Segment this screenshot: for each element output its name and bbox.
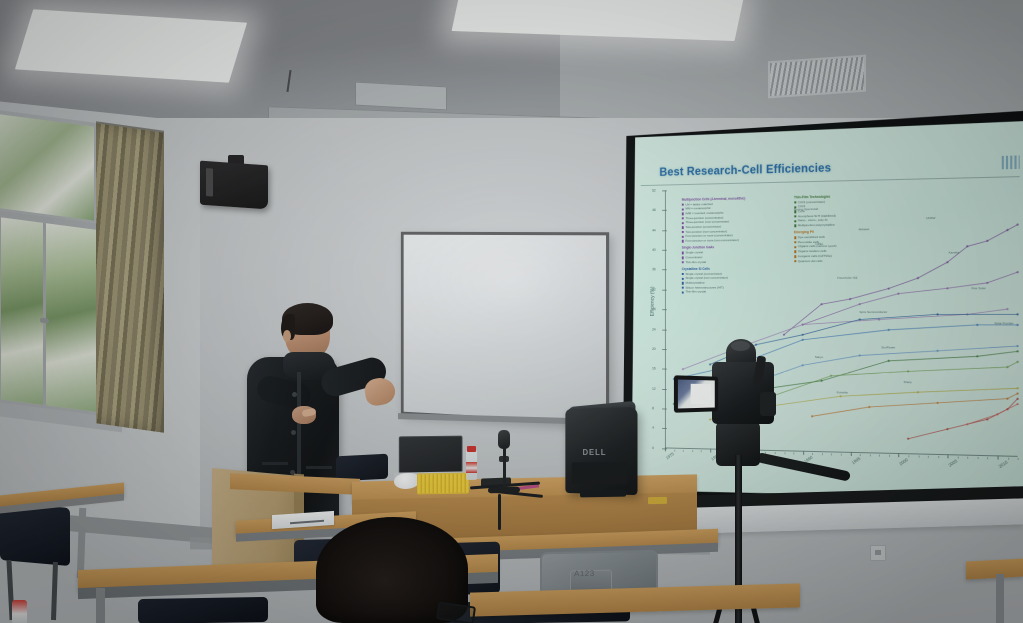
- x-minor-tick: [948, 456, 949, 458]
- x-minor-tick: [977, 457, 978, 459]
- chart-marker: [1007, 308, 1009, 310]
- legend-item: Four-junction or more (non-concentrator): [682, 238, 746, 243]
- chart-marker: [682, 368, 684, 370]
- x-minor-tick: [968, 457, 969, 459]
- y-tick: [662, 428, 667, 429]
- x-minor-tick: [784, 452, 785, 454]
- y-tick-label: 44: [652, 228, 656, 232]
- chart-marker: [868, 406, 870, 408]
- chart-marker: [937, 313, 939, 315]
- chart-marker: [802, 334, 804, 336]
- legend-item: Thin-film crystal: [682, 259, 746, 264]
- side-desk: [966, 559, 1023, 580]
- y-tick-label: 48: [652, 208, 656, 212]
- chart-annotation: Sanyo: [815, 356, 823, 360]
- chart-marker: [709, 363, 711, 365]
- chart-marker: [1017, 350, 1019, 352]
- dell-logo: DELL: [583, 448, 607, 457]
- window-pane-left: [1, 217, 43, 405]
- x-minor-tick: [841, 453, 842, 455]
- chart-legend-column-1: Multijunction Cells (2-terminal, monolit…: [682, 194, 746, 295]
- chart-marker: [907, 370, 909, 372]
- chart-marker: [878, 318, 880, 320]
- chart-marker: [755, 343, 757, 345]
- chart-marker: [888, 360, 890, 362]
- yellow-object: [648, 497, 667, 504]
- bottle-label: [466, 462, 477, 473]
- x-minor-tick: [710, 450, 711, 452]
- x-minor-tick: [692, 450, 693, 452]
- camcorder-lcd-image: [691, 384, 711, 404]
- x-minor-tick: [822, 453, 823, 455]
- chart-marker: [849, 298, 851, 300]
- chart-marker: [821, 303, 823, 305]
- chart-marker: [709, 418, 711, 420]
- wall-speaker: [200, 161, 268, 210]
- chart-marker: [1007, 366, 1009, 368]
- y-tick-label: 28: [652, 307, 656, 311]
- chart-marker: [1017, 387, 1019, 389]
- x-minor-tick: [889, 455, 890, 457]
- chart-marker: [821, 380, 823, 382]
- monitor-rear-panel: [572, 462, 628, 484]
- chart-annotation: Kaneka: [949, 252, 960, 256]
- y-tick: [662, 230, 667, 231]
- chart-marker: [907, 437, 909, 439]
- y-tick-label: 40: [652, 248, 656, 252]
- chart-marker: [986, 282, 988, 284]
- x-minor-tick: [998, 457, 999, 459]
- chart-marker: [1017, 324, 1019, 326]
- cable: [498, 494, 501, 530]
- chart-marker: [947, 287, 949, 289]
- camcorder-lens-ring: [731, 341, 750, 351]
- y-tick-label: 36: [652, 268, 656, 272]
- x-minor-tick: [928, 456, 929, 458]
- x-minor-tick: [850, 454, 851, 456]
- chart-annotation: Heliatek: [858, 228, 869, 232]
- projection-screen: Best Research-Cell Efficiencies Efficien…: [615, 111, 1023, 521]
- chart-marker: [802, 364, 804, 366]
- monitor-stand: [580, 490, 626, 498]
- chart-marker: [966, 245, 968, 247]
- desk-leg: [996, 574, 1004, 623]
- screen-surface: Best Research-Cell Efficiencies Efficien…: [630, 121, 1023, 503]
- wall-outlet: [870, 545, 886, 561]
- coat-pocket: [306, 466, 332, 469]
- window-handle[interactable]: [40, 317, 49, 323]
- chart-annotation: Spire Semiconductor: [859, 311, 887, 315]
- water-bottle-far: [12, 600, 27, 623]
- legend-item: Thin-film crystal: [682, 290, 746, 295]
- x-tick-label: 1975: [665, 451, 675, 460]
- x-tick-label: 2010: [998, 459, 1009, 469]
- chart-marker: [830, 374, 832, 376]
- chart-marker: [859, 303, 861, 305]
- y-tick: [662, 210, 667, 211]
- y-tick-label: 20: [652, 347, 656, 351]
- desk-leg: [96, 588, 105, 623]
- x-minor-tick: [793, 452, 794, 454]
- y-tick-label: 4: [652, 426, 654, 430]
- y-tick: [662, 389, 667, 390]
- y-tick-label: 0: [652, 446, 654, 450]
- chart-marker: [917, 277, 919, 279]
- y-tick: [662, 270, 667, 271]
- x-minor-tick: [988, 457, 989, 459]
- x-minor-tick: [958, 456, 959, 458]
- chart-marker: [1017, 223, 1019, 225]
- y-tick: [662, 329, 667, 330]
- y-tick: [662, 349, 667, 350]
- x-minor-tick: [831, 453, 832, 455]
- y-tick-label: 16: [652, 367, 656, 371]
- window-pane-right: [46, 223, 99, 412]
- chart-line: [747, 345, 1018, 389]
- yellow-basket: [417, 473, 469, 495]
- chart-marker: [811, 415, 813, 417]
- nrel-logo-icon: [1002, 156, 1020, 170]
- chart-legend-column-2: Thin-Film TechnologiesCIGS (concentrator…: [794, 192, 837, 264]
- microphone-stand: [503, 445, 506, 491]
- x-minor-tick: [775, 452, 776, 454]
- chart-annotation: NREL: [816, 242, 824, 246]
- chart-marker: [1017, 313, 1019, 315]
- camcorder-grip: [760, 392, 776, 416]
- y-tick: [662, 250, 667, 251]
- chart-marker: [1007, 229, 1009, 231]
- chart-marker: [937, 402, 939, 404]
- chart-marker: [897, 292, 899, 294]
- chart-marker: [947, 261, 949, 263]
- presenter-ear: [283, 330, 291, 342]
- x-minor-tick: [665, 449, 666, 451]
- chart-marker: [859, 354, 861, 356]
- chart-marker: [783, 333, 785, 335]
- chart-annotation: Sharp: [904, 381, 912, 385]
- chart-marker: [947, 428, 949, 430]
- x-minor-tick: [918, 455, 919, 457]
- x-minor-tick: [879, 454, 880, 456]
- x-minor-tick: [1018, 458, 1019, 460]
- bottle-cap: [467, 446, 476, 452]
- chart-marker: [888, 287, 890, 289]
- chart-marker: [802, 339, 804, 341]
- x-minor-tick: [938, 456, 939, 458]
- x-minor-tick: [1008, 458, 1009, 460]
- y-tick: [662, 309, 667, 310]
- legend-item: Quantum dot cells: [794, 258, 837, 263]
- y-tick-label: 52: [652, 189, 656, 193]
- chart-annotation: SunPower: [881, 346, 895, 350]
- chart-annotation: Boeing-Spectrolab: [794, 208, 818, 212]
- x-minor-tick: [812, 453, 813, 455]
- microphone-base: [488, 487, 520, 494]
- chart-marker: [937, 350, 939, 352]
- y-tick-label: 12: [652, 387, 656, 391]
- classroom-photo: Best Research-Cell Efficiencies Efficien…: [0, 0, 1023, 623]
- slide: Best Research-Cell Efficiencies Efficien…: [630, 121, 1023, 503]
- chart-marker: [859, 318, 861, 320]
- y-tick-label: 8: [652, 406, 654, 410]
- chart-annotation: UNSW: [926, 217, 935, 221]
- coat-button: [291, 430, 296, 435]
- window-transom: [0, 109, 98, 225]
- chart-marker: [976, 355, 978, 357]
- coat-pocket: [262, 462, 288, 465]
- x-minor-tick: [860, 454, 861, 456]
- chart-marker: [966, 423, 968, 425]
- chart-annotation: Solar Frontier: [994, 322, 1013, 326]
- chart-annotation: Konarka: [837, 391, 848, 395]
- y-tick-label: 24: [652, 327, 656, 331]
- y-tick: [662, 409, 667, 410]
- x-minor-tick: [674, 449, 675, 451]
- x-tick-label: 2005: [948, 458, 959, 467]
- ac-vent-right: [768, 55, 866, 99]
- y-tick: [662, 289, 667, 290]
- chart-line: [803, 272, 1018, 325]
- ac-vent-left: [355, 82, 447, 111]
- window-frame: [0, 209, 106, 420]
- y-tick-label: 32: [652, 288, 656, 292]
- chart-marker: [976, 324, 978, 326]
- y-tick: [662, 369, 667, 370]
- chair[interactable]: [138, 597, 268, 623]
- x-minor-tick: [908, 455, 909, 457]
- slide-title: Best Research-Cell Efficiencies: [659, 162, 831, 178]
- chart-marker: [917, 391, 919, 393]
- whiteboard: [401, 232, 609, 426]
- x-minor-tick: [701, 450, 702, 452]
- chart-marker: [1017, 345, 1019, 347]
- chart-marker: [986, 240, 988, 242]
- chart-annotation: Fraunhofer ISE: [837, 277, 857, 281]
- curtain[interactable]: [96, 123, 164, 433]
- chart-marker: [1017, 271, 1019, 273]
- x-minor-tick: [803, 453, 804, 455]
- x-minor-tick: [683, 450, 684, 452]
- x-minor-tick: [899, 455, 900, 457]
- x-tick-label: 2000: [899, 457, 910, 466]
- chair-marking: A123: [574, 569, 595, 578]
- chart-marker: [888, 329, 890, 331]
- legend-item: Multijunction polycrystalline: [794, 223, 837, 228]
- chart-marker: [840, 395, 842, 397]
- x-minor-tick: [870, 454, 871, 456]
- chart-marker: [1017, 361, 1019, 363]
- chart-marker: [802, 323, 804, 325]
- x-tick-label: 1995: [850, 456, 861, 465]
- coat-button: [292, 392, 297, 397]
- chart-annotation: First Solar: [971, 287, 985, 291]
- y-tick: [662, 190, 667, 191]
